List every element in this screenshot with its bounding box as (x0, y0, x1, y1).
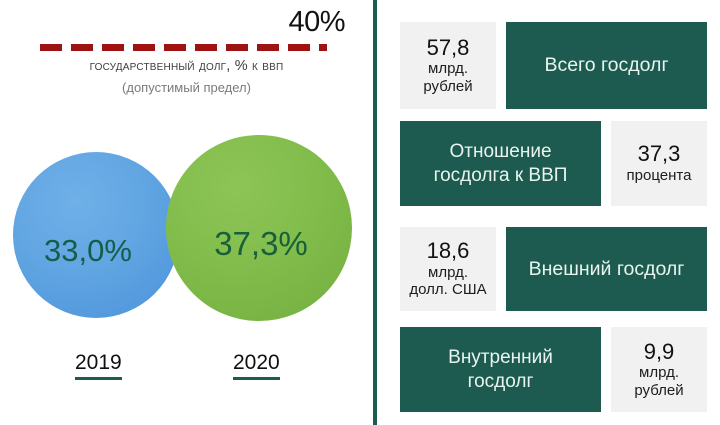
stat-label-line-1: Внутренний (448, 346, 553, 370)
stat-value-debt-to-gdp: 37,3 процента (611, 121, 707, 206)
stat-number: 9,9 (644, 340, 675, 365)
stat-value-external-debt: 18,6 млрд. долл. США (400, 227, 496, 311)
stat-unit-line-1: млрд. (639, 364, 679, 382)
stat-unit-line-2: рублей (634, 382, 683, 400)
circle-2019-value: 33,0% (44, 233, 132, 269)
stat-row-total-debt: 57,8 млрд. рублей Всего госдолг (400, 22, 707, 109)
stat-label-debt-to-gdp: Отношение госдолга к ВВП (400, 121, 601, 206)
stat-label-line-2: госдолг (468, 370, 534, 394)
circle-2020-value: 37,3% (214, 225, 308, 263)
circle-2019: 33,0% (13, 152, 179, 318)
stat-number: 18,6 (427, 239, 470, 264)
chart-caption-sub: (допустимый предел) (0, 80, 373, 95)
infographic-page: 40% Государственный долг, % к ВВП (допус… (0, 0, 720, 425)
stat-label-external-debt: Внешний госдолг (506, 227, 707, 311)
stat-unit-line-2: долл. США (409, 281, 486, 299)
stat-unit-line-2: рублей (423, 78, 472, 96)
stat-number: 37,3 (638, 142, 681, 167)
stat-row-debt-to-gdp: Отношение госдолга к ВВП 37,3 процента (400, 121, 707, 206)
stat-value-total-debt: 57,8 млрд. рублей (400, 22, 496, 109)
stat-label-line-1: Всего госдолг (544, 53, 668, 77)
stat-label-line-2: госдолга к ВВП (434, 164, 568, 188)
chart-caption-main: Государственный долг, % к ВВП (0, 58, 373, 74)
year-label-2019: 2019 (75, 352, 122, 380)
stat-label-internal-debt: Внутренний госдолг (400, 327, 601, 412)
stat-unit-line-1: процента (627, 167, 692, 185)
stat-label-line-1: Отношение (449, 140, 551, 164)
stat-value-internal-debt: 9,9 млрд. рублей (611, 327, 707, 412)
left-panel-debt-ratio: 40% Государственный долг, % к ВВП (допус… (0, 0, 373, 425)
limit-value-label: 40% (288, 8, 345, 37)
right-panel-debt-figures: 57,8 млрд. рублей Всего госдолг Отношени… (377, 0, 720, 425)
stat-number: 57,8 (427, 36, 470, 61)
stat-row-internal-debt: Внутренний госдолг 9,9 млрд. рублей (400, 327, 707, 412)
stat-label-total-debt: Всего госдолг (506, 22, 707, 109)
circle-2020: 37,3% (166, 135, 352, 321)
limit-dashed-line (40, 44, 327, 51)
year-label-2020: 2020 (233, 352, 280, 380)
stat-row-external-debt: 18,6 млрд. долл. США Внешний госдолг (400, 227, 707, 311)
stat-label-line-1: Внешний госдолг (529, 257, 685, 281)
stat-unit-line-1: млрд. (428, 264, 468, 282)
stat-unit-line-1: млрд. (428, 60, 468, 78)
